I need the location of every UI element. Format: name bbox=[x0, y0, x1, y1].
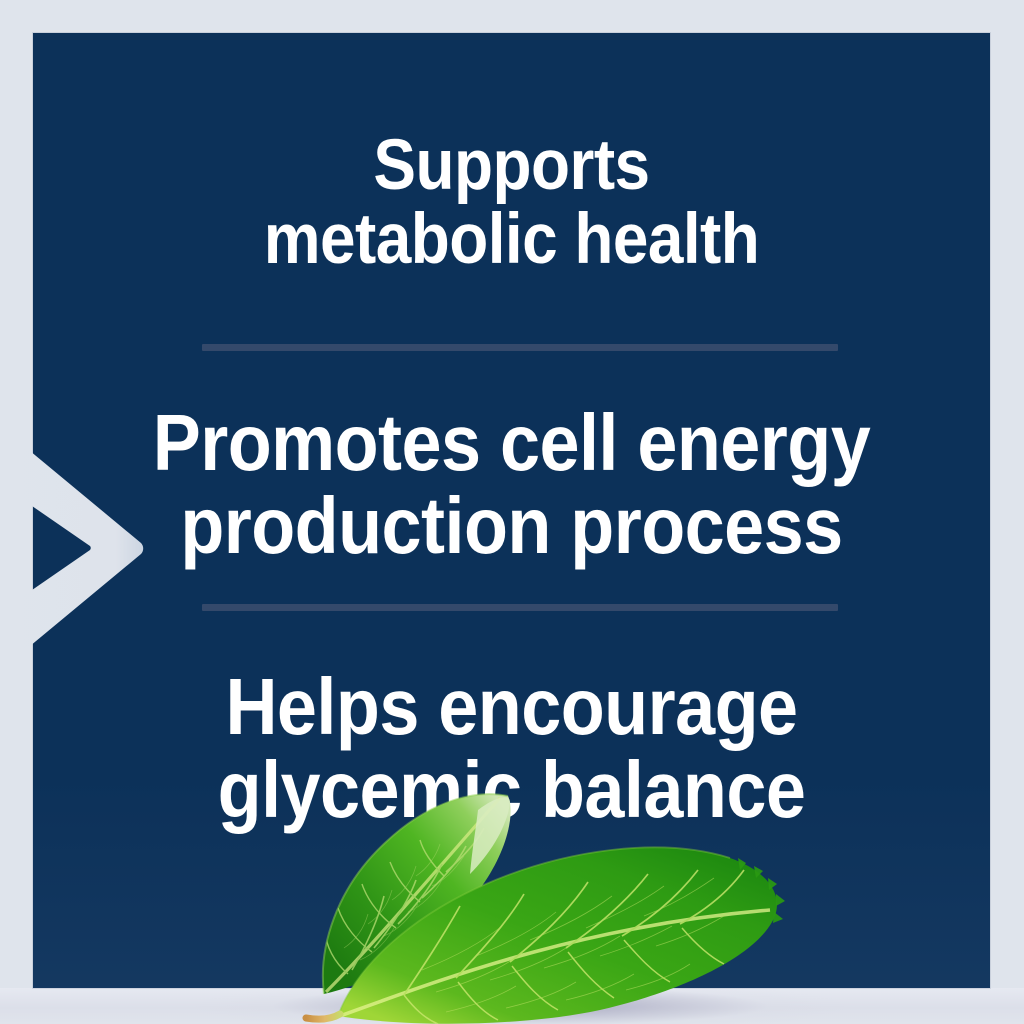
benefit-divider bbox=[202, 604, 838, 611]
benefit-item-glycemic-balance: Helps encourage glycemic balance bbox=[81, 665, 942, 831]
benefits-content: Supports metabolic health Promotes cell … bbox=[33, 33, 990, 988]
benefit-line: Helps encourage bbox=[81, 665, 942, 748]
benefit-line: glycemic balance bbox=[81, 748, 942, 831]
benefit-line: Supports bbox=[81, 129, 942, 203]
benefits-card: Supports metabolic health Promotes cell … bbox=[33, 33, 990, 988]
benefit-line: production process bbox=[81, 484, 942, 567]
benefit-line: metabolic health bbox=[81, 203, 942, 277]
surface-shadow bbox=[0, 988, 1024, 1024]
panel-stage: Supports metabolic health Promotes cell … bbox=[0, 0, 1024, 1024]
benefit-divider bbox=[202, 344, 838, 351]
benefit-item-metabolic-health: Supports metabolic health bbox=[81, 129, 942, 277]
benefit-item-cell-energy: Promotes cell energy production process bbox=[81, 401, 942, 567]
benefit-line: Promotes cell energy bbox=[81, 401, 942, 484]
